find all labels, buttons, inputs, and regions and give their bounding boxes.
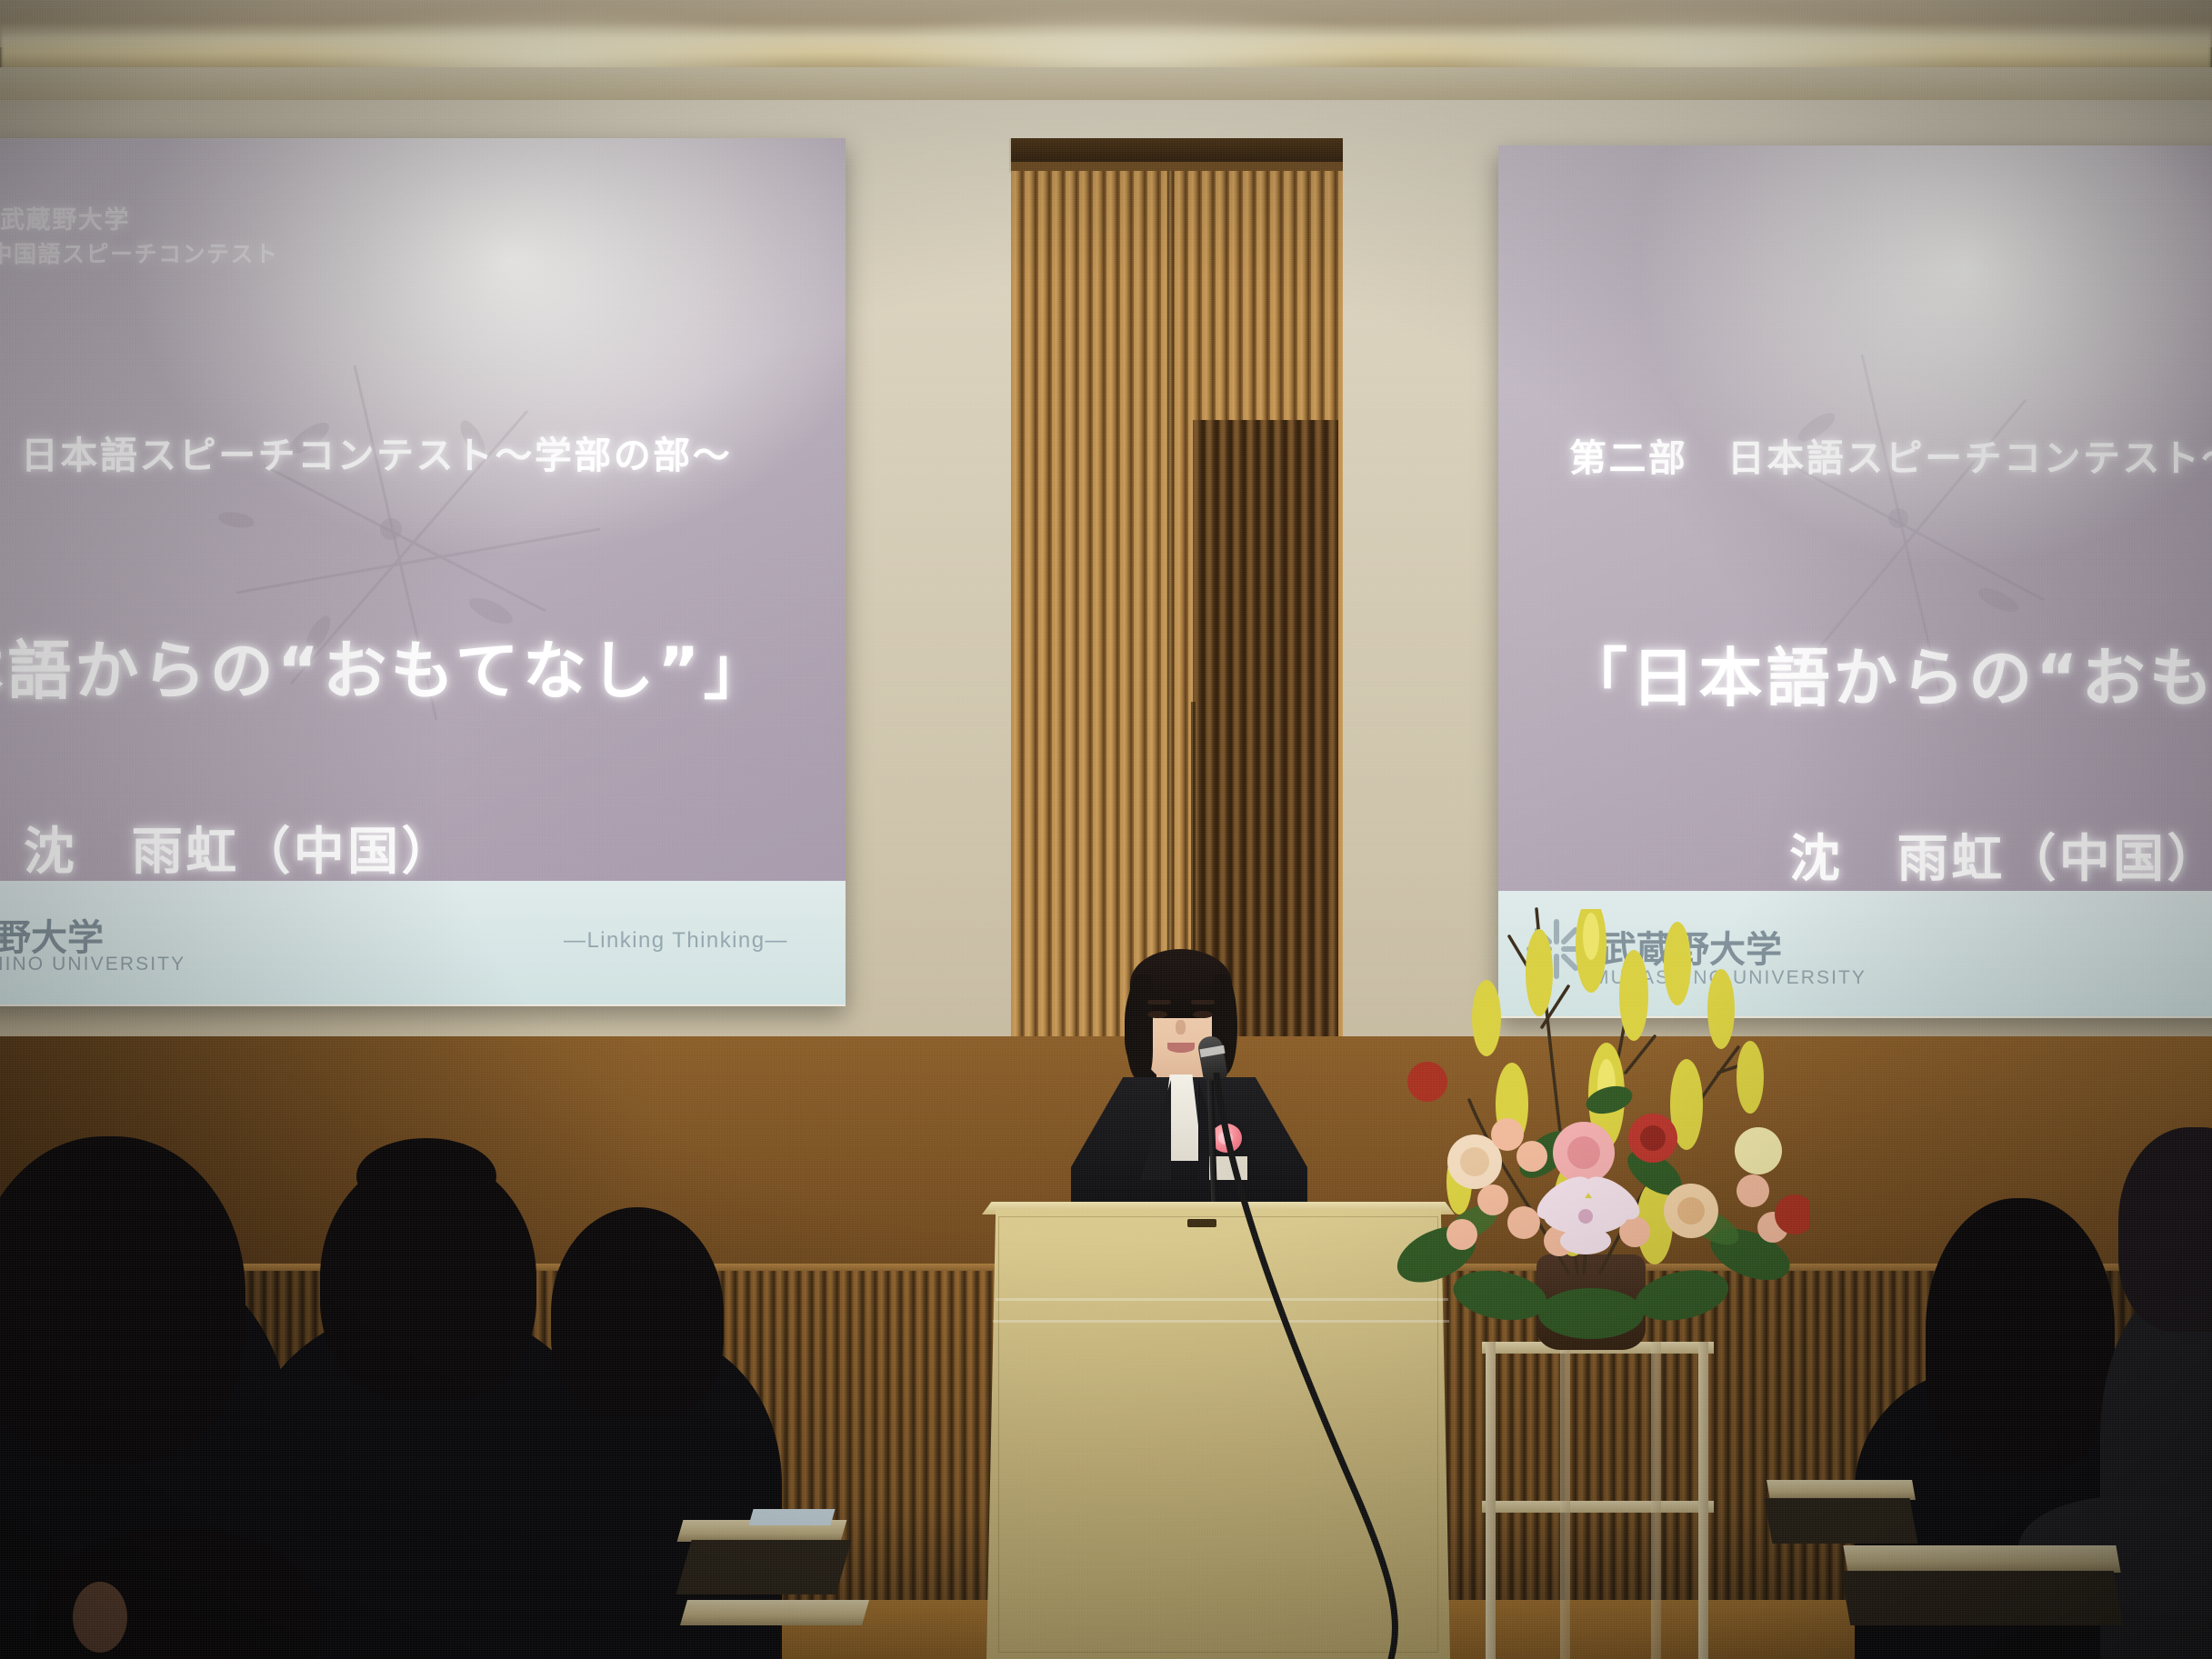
- lecture-desk: [1843, 1545, 2120, 1573]
- left-slide-logo-en: SASHINO UNIVERSITY: [0, 954, 185, 975]
- left-slide-speech-title: 本語からの“おもてなし”」: [0, 620, 771, 712]
- speaker-brow-left: [1147, 1000, 1171, 1004]
- slat-panel-cap: [1011, 138, 1343, 162]
- speaker-eye-right: [1193, 1011, 1213, 1018]
- lecture-desk-side: [676, 1540, 851, 1594]
- stand-leg-left: [1486, 1342, 1496, 1659]
- flower-blooms: [1391, 1054, 1809, 1327]
- right-slide-speech-title: 「日本語からの“おもてな: [1564, 627, 2212, 719]
- lecture-desk-side: [1765, 1498, 1918, 1544]
- left-slide-header-line1: 武蔵野大学: [0, 200, 130, 235]
- stand-leg-inner: [1560, 1342, 1570, 1659]
- audience-member-head: [0, 1136, 245, 1464]
- audience-member-head: [1926, 1198, 2115, 1471]
- left-slide-header-line2: ・中国語スピーチコンテスト: [0, 236, 279, 269]
- left-slide-section-line: 部 日本語スピーチコンテスト〜学部の部〜: [0, 425, 732, 479]
- lecture-desk: [680, 1600, 869, 1625]
- right-slide-speaker-name: 沈 雨虹（中国）: [1789, 818, 2212, 892]
- left-screen-weight-bar: [0, 1004, 846, 1006]
- audience-member-head: [551, 1207, 724, 1418]
- lecture-hall-scene: 武蔵野大学 ・中国語スピーチコンテスト 部 日本語スピーチコンテスト〜学部の部〜…: [0, 0, 2212, 1659]
- left-slide-footer-band: 蔵野大学 SASHINO UNIVERSITY —Linking Thinkin…: [0, 881, 846, 1006]
- audience-member-ear: [73, 1582, 127, 1653]
- slat-panel-rail: [1011, 162, 1343, 171]
- speaker-eye-left: [1147, 1011, 1167, 1018]
- stand-lower-shelf: [1482, 1501, 1714, 1513]
- left-projection-screen: 武蔵野大学 ・中国語スピーチコンテスト 部 日本語スピーチコンテスト〜学部の部〜…: [0, 138, 846, 1006]
- left-slide-tagline: —Linking Thinking—: [564, 928, 788, 954]
- two-tier-wooden-stand: [1482, 1342, 1714, 1659]
- left-slide-speaker-name: 沈 雨虹（中国）: [24, 811, 455, 884]
- speaker-hair-left: [1126, 974, 1153, 1080]
- speaker-mouth: [1167, 1043, 1195, 1053]
- right-slide-section-line: 第二部 日本語スピーチコンテスト〜学: [1569, 427, 2212, 482]
- lecture-desk-side: [1841, 1571, 2124, 1625]
- lecture-desk: [1767, 1480, 1916, 1500]
- stand-leg-inner2: [1651, 1342, 1661, 1659]
- audience-member-hair-bun: [356, 1138, 496, 1214]
- speaker-brow-right: [1191, 1000, 1215, 1004]
- stand-leg-right: [1698, 1342, 1708, 1659]
- lecture-desk-paper: [748, 1509, 835, 1525]
- speaker-nose: [1176, 1020, 1186, 1034]
